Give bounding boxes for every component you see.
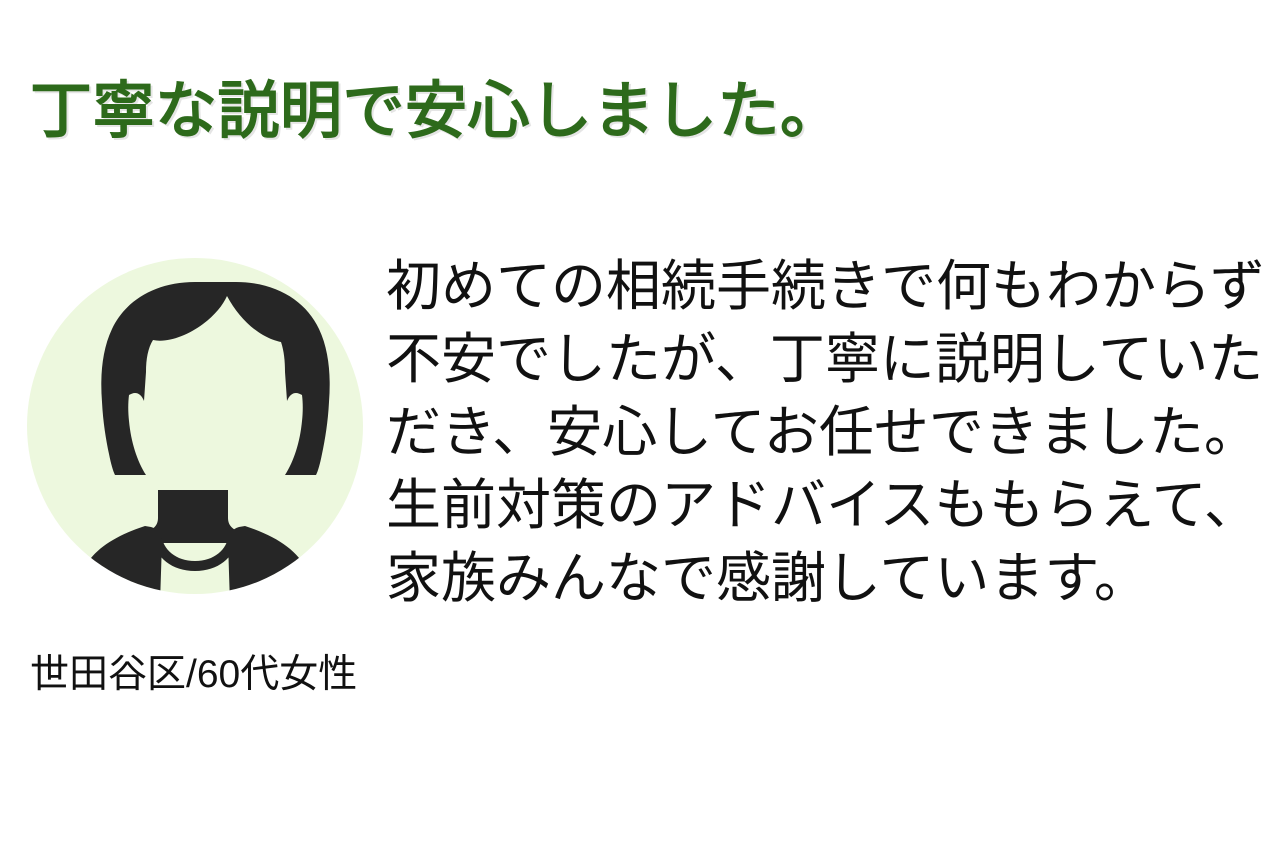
testimonial-card: 丁寧な説明で安心しました。 初めての相続手続きで何もわからず 不安でしたが、丁寧… [0,0,1280,854]
testimonial-quote: 初めての相続手続きで何もわからず 不安でしたが、丁寧に説明していた だき、安心し… [386,250,1256,615]
woman-avatar-icon [27,258,363,594]
quote-line: 家族みんなで感謝しています。 [386,542,1256,615]
avatar [27,258,363,594]
quote-line: だき、安心してお任せできました。 [386,396,1256,469]
page-title: 丁寧な説明で安心しました。 [30,76,1250,147]
quote-line: 生前対策のアドバイスももらえて、 [386,469,1256,542]
testimonial-body: 初めての相続手続きで何もわからず 不安でしたが、丁寧に説明していた だき、安心し… [0,250,1280,620]
quote-line: 初めての相続手続きで何もわからず [386,250,1256,323]
quote-line: 不安でしたが、丁寧に説明していた [386,323,1256,396]
testimonial-attribution: 世田谷区/60代女性 [30,652,357,699]
